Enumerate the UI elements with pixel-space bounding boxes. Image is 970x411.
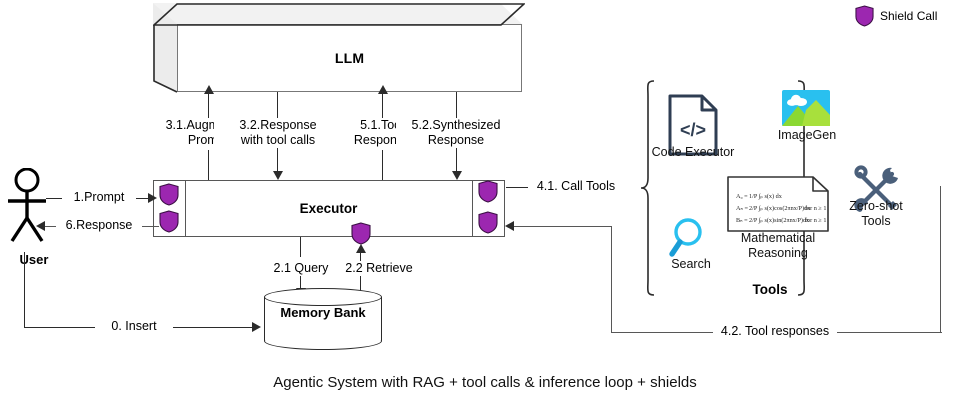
executor-label: Executor	[185, 180, 472, 237]
imagegen-label: ImageGen	[766, 128, 848, 143]
executor-right-divider	[472, 180, 473, 237]
diagram-caption: Agentic System with RAG + tool calls & i…	[0, 374, 970, 391]
user-actor[interactable]	[6, 168, 62, 244]
mathematical-reasoning-label: MathematicalReasoning	[715, 231, 841, 261]
edge-label-insert: 0. Insert	[95, 319, 173, 334]
edge-label-response-tool-calls-line1: 3.2.Response	[239, 118, 316, 132]
edge-tool-responses-vline-right	[940, 186, 941, 333]
svg-text:for n ≥ 1: for n ≥ 1	[805, 217, 826, 224]
svg-text:1/P ∫ₚ s(x) dx: 1/P ∫ₚ s(x) dx	[749, 193, 783, 200]
zero-shot-tools-label-line2: Tools	[861, 214, 890, 228]
mathematical-reasoning-icon[interactable]: A₀ = 1/P ∫ₚ s(x) dx Aₙ = 2/P ∫ₚ s(x)cos(…	[727, 176, 829, 237]
edge-prompt-arrowhead	[148, 193, 157, 203]
mathematical-reasoning-label-line2: Reasoning	[748, 246, 808, 260]
search-label: Search	[655, 257, 727, 272]
edge-insert-vline	[24, 252, 25, 328]
edge-tool-response-line-bottom	[382, 150, 383, 180]
edge-label-retrieve: 2.2 Retrieve	[337, 261, 421, 276]
svg-text:2/P ∫ₚ s(x)cos(2πnx/P)dx: 2/P ∫ₚ s(x)cos(2πnx/P)dx	[749, 205, 811, 212]
edge-synth-response-line-bottom	[456, 148, 457, 173]
svg-text:Bₙ =: Bₙ =	[736, 217, 748, 224]
edge-label-response: 6.Response	[56, 218, 142, 233]
edge-synth-response-arrowhead	[452, 171, 462, 180]
edge-label-prompt: 1.Prompt	[62, 190, 136, 205]
edge-retrieve-arrowhead	[356, 244, 366, 253]
llm-label: LLM	[177, 24, 522, 92]
memory-bank-cylinder-top	[264, 288, 382, 306]
edge-augmented-prompt-line-bottom	[208, 150, 209, 180]
tools-bracket-left	[640, 80, 656, 296]
edge-query-line-top	[300, 237, 301, 257]
svg-text:2/P ∫ₚ s(x)sin(2πnx/P)dx: 2/P ∫ₚ s(x)sin(2πnx/P)dx	[749, 217, 810, 224]
svg-text:A₀ =: A₀ =	[736, 193, 748, 200]
edge-response-tool-calls-line-bottom	[277, 148, 278, 173]
edge-response-arrowhead	[36, 221, 45, 231]
svg-text:</>: </>	[680, 120, 706, 140]
shield-icon-output-response[interactable]	[159, 210, 179, 233]
edge-label-response-tool-calls: 3.2.Responsewith tool calls	[214, 118, 342, 148]
diagram-canvas: LLM 3.1.AugmentedPrompt 3.2.Responsewith…	[0, 0, 970, 411]
edge-augmented-prompt-arrowhead	[204, 85, 214, 94]
svg-text:Aₙ =: Aₙ =	[736, 205, 748, 212]
edge-label-call-tools: 4.1. Call Tools	[528, 179, 624, 194]
edge-tool-responses-vline-left	[611, 226, 612, 333]
edge-tool-response-arrowhead	[378, 85, 388, 94]
user-label: User	[2, 252, 66, 267]
mathematical-reasoning-label-line1: Mathematical	[741, 231, 815, 245]
edge-label-synth-response-line1: 5.2.Synthesized	[412, 118, 501, 132]
code-executor-label: Code Executor	[645, 145, 741, 160]
zero-shot-tools-label: Zero-shotTools	[840, 199, 912, 229]
edge-tool-responses-arrowhead	[505, 221, 514, 231]
shield-icon-tool-response[interactable]	[478, 211, 498, 234]
legend-label: Shield Call	[880, 9, 937, 24]
edge-response-tool-calls-arrowhead	[273, 171, 283, 180]
legend-shield-icon	[855, 5, 874, 27]
llm-node[interactable]: LLM	[153, 3, 525, 93]
tools-group-label: Tools	[700, 282, 840, 297]
edge-tool-responses-hline-to-executor	[511, 226, 612, 227]
edge-label-synth-response: 5.2.SynthesizedResponse	[396, 118, 516, 148]
shield-icon-input-prompt[interactable]	[159, 183, 179, 206]
shield-icon-memory[interactable]	[351, 222, 371, 245]
shield-icon-tool-call[interactable]	[478, 180, 498, 203]
edge-label-tool-responses: 4.2. Tool responses	[713, 324, 837, 339]
edge-insert-arrowhead	[252, 322, 261, 332]
edge-label-query: 2.1 Query	[266, 261, 336, 276]
zero-shot-tools-label-line1: Zero-shot	[849, 199, 903, 213]
edge-label-response-tool-calls-line2: with tool calls	[241, 133, 315, 147]
memory-bank-label: Memory Bank	[264, 305, 382, 320]
svg-text:for n ≥ 1: for n ≥ 1	[805, 205, 826, 212]
imagegen-icon[interactable]	[782, 90, 830, 131]
edge-label-synth-response-line2: Response	[428, 133, 484, 147]
